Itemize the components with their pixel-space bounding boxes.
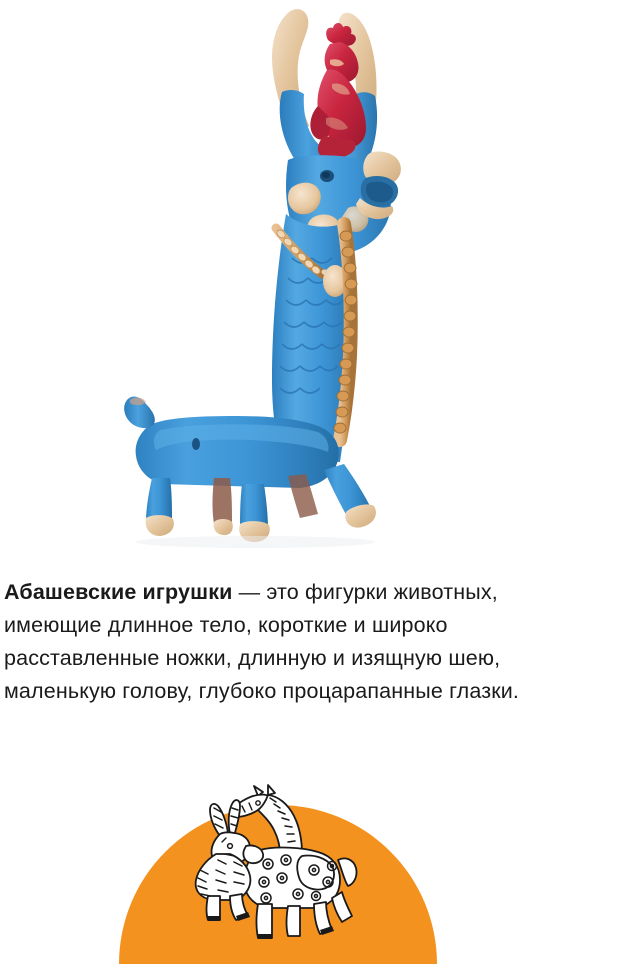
caption-block: Абашевские игрушки — это фигурки животны… [0, 576, 600, 708]
footer-arc [0, 770, 633, 964]
eye-pupil [322, 172, 330, 178]
caption-term: Абашевские игрушки [4, 580, 232, 604]
ground-shadow [135, 536, 375, 548]
caption-paragraph: Абашевские игрушки — это фигурки животны… [4, 576, 596, 708]
hip-scratch [192, 438, 200, 450]
rear-far-leg [213, 478, 233, 524]
figurine-photo [0, 0, 633, 560]
